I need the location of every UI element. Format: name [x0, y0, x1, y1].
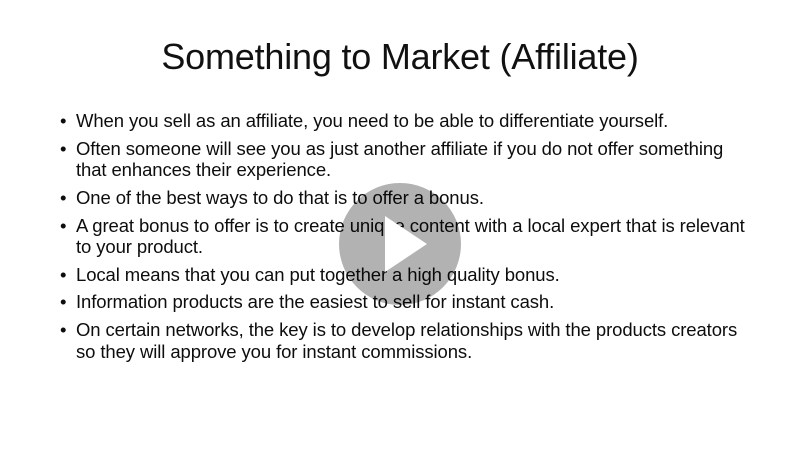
- bullet-marker-icon: •: [60, 291, 66, 313]
- list-item: • Often someone will see you as just ano…: [58, 138, 758, 181]
- bullet-marker-icon: •: [60, 138, 66, 160]
- list-item-text: When you sell as an affiliate, you need …: [76, 110, 758, 132]
- bullet-marker-icon: •: [60, 264, 66, 286]
- list-item: • When you sell as an affiliate, you nee…: [58, 110, 758, 132]
- list-item: • On certain networks, the key is to dev…: [58, 319, 758, 362]
- page-title: Something to Market (Affiliate): [0, 36, 800, 77]
- list-item-text: Often someone will see you as just anoth…: [76, 138, 758, 181]
- play-button[interactable]: [339, 183, 461, 305]
- bullet-marker-icon: •: [60, 215, 66, 237]
- slide-canvas: Something to Market (Affiliate) • When y…: [0, 0, 800, 450]
- bullet-marker-icon: •: [60, 319, 66, 341]
- bullet-marker-icon: •: [60, 110, 66, 132]
- play-icon: [385, 216, 427, 272]
- list-item-text: On certain networks, the key is to devel…: [76, 319, 758, 362]
- bullet-marker-icon: •: [60, 187, 66, 209]
